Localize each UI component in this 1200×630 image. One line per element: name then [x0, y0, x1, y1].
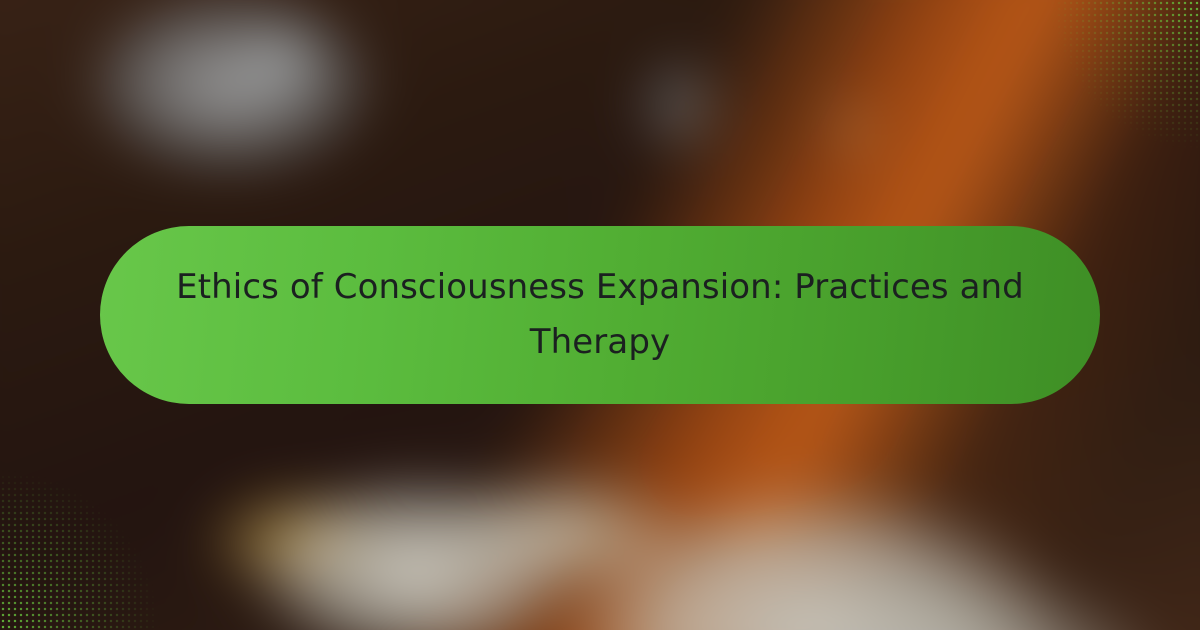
title-banner: Ethics of Consciousness Expansion: Pract… — [100, 226, 1100, 404]
page-title: Ethics of Consciousness Expansion: Pract… — [170, 260, 1030, 370]
title-card-canvas: Ethics of Consciousness Expansion: Pract… — [0, 0, 1200, 630]
